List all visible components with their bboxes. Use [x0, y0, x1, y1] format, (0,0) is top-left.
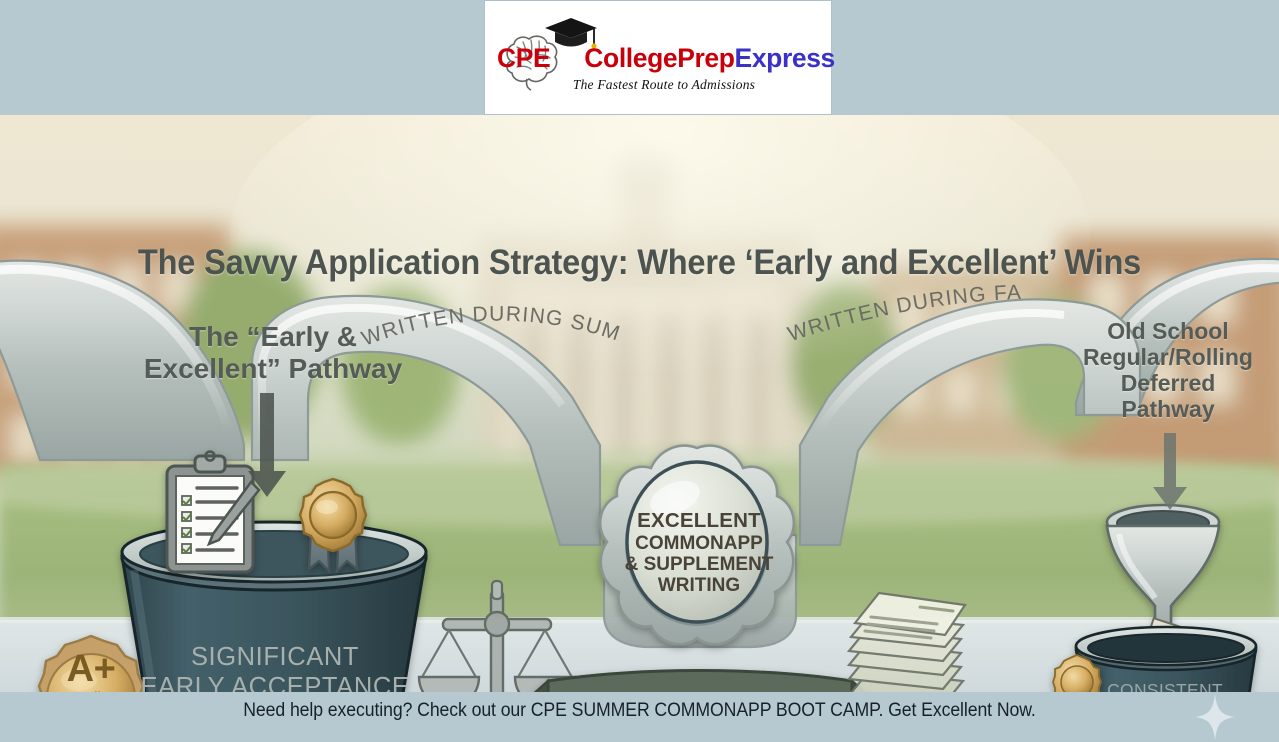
header-bar: CPECollegePrepExpress The Fastest Route …: [0, 0, 1279, 115]
clipboard-checklist-icon: [167, 452, 259, 573]
logo-wordmark: CPECollegePrepExpress: [497, 43, 831, 74]
left-bucket-line2: EARLY ACCEPTANCE: [124, 673, 426, 692]
right-pathway-label-line1: Old School: [1048, 318, 1279, 344]
right-pathway-label: Old School Regular/Rolling Deferred Path…: [1048, 318, 1279, 422]
seal-line3: & SUPPLEMENT: [610, 554, 788, 575]
right-pathway-label-line2: Regular/Rolling: [1048, 344, 1279, 370]
right-pathway-label-line4: Pathway: [1048, 396, 1279, 422]
paper-stack-icon: [849, 593, 965, 692]
logo-word-prep: Prep: [677, 43, 734, 73]
seal-line1: EXCELLENT: [610, 510, 788, 533]
center-seal-text: EXCELLENT COMMONAPP & SUPPLEMENT WRITING: [610, 510, 788, 597]
aplus-seal-text: A+ Excellent Seal: [34, 650, 148, 692]
logo-word-e: E: [735, 43, 752, 73]
right-pathway-label-line3: Deferred: [1048, 370, 1279, 396]
footer-cta-text: Need help executing? Check out our CPE S…: [45, 700, 1234, 722]
four-point-star-icon: [1193, 692, 1237, 742]
page-title: The Savvy Application Strategy: Where ‘E…: [45, 243, 1234, 283]
left-pathway-label-line2: Excellent” Pathway: [118, 353, 428, 385]
logo-word-xpress: xpress: [752, 43, 835, 73]
aplus-grade: A+: [34, 650, 148, 688]
logo-word-college: College: [584, 43, 677, 73]
infographic-page: CPECollegePrepExpress The Fastest Route …: [0, 0, 1279, 742]
right-down-arrow-icon: [1153, 433, 1187, 510]
left-pathway-label: The “Early & Excellent” Pathway: [118, 321, 428, 384]
seal-line2: COMMONAPP: [610, 533, 788, 554]
logo-mark-cpe: CPE: [497, 43, 550, 73]
logo-tagline: The Fastest Route to Admissions: [497, 77, 831, 93]
left-bucket-text: SIGNIFICANT EARLY ACCEPTANCE (HIGHEST AD…: [124, 643, 426, 692]
right-bucket-line1: CONSISTENT: [1075, 681, 1255, 692]
infographic-scene: The Savvy Application Strategy: Where ‘E…: [0, 115, 1279, 692]
balance-scales-icon: [419, 581, 575, 692]
right-bucket-text: CONSISTENT LOWER ACCEPTANCE (HIGHEST RIS…: [1075, 681, 1255, 692]
footer-bar: Need help executing? Check out our CPE S…: [0, 692, 1279, 742]
left-bucket-line1: SIGNIFICANT: [124, 643, 426, 673]
left-pathway-label-line1: The “Early &: [118, 321, 428, 353]
seal-line4: WRITING: [610, 575, 788, 596]
brand-logo-card: CPECollegePrepExpress The Fastest Route …: [485, 1, 831, 114]
heavy-lifting-banner: [530, 671, 870, 693]
